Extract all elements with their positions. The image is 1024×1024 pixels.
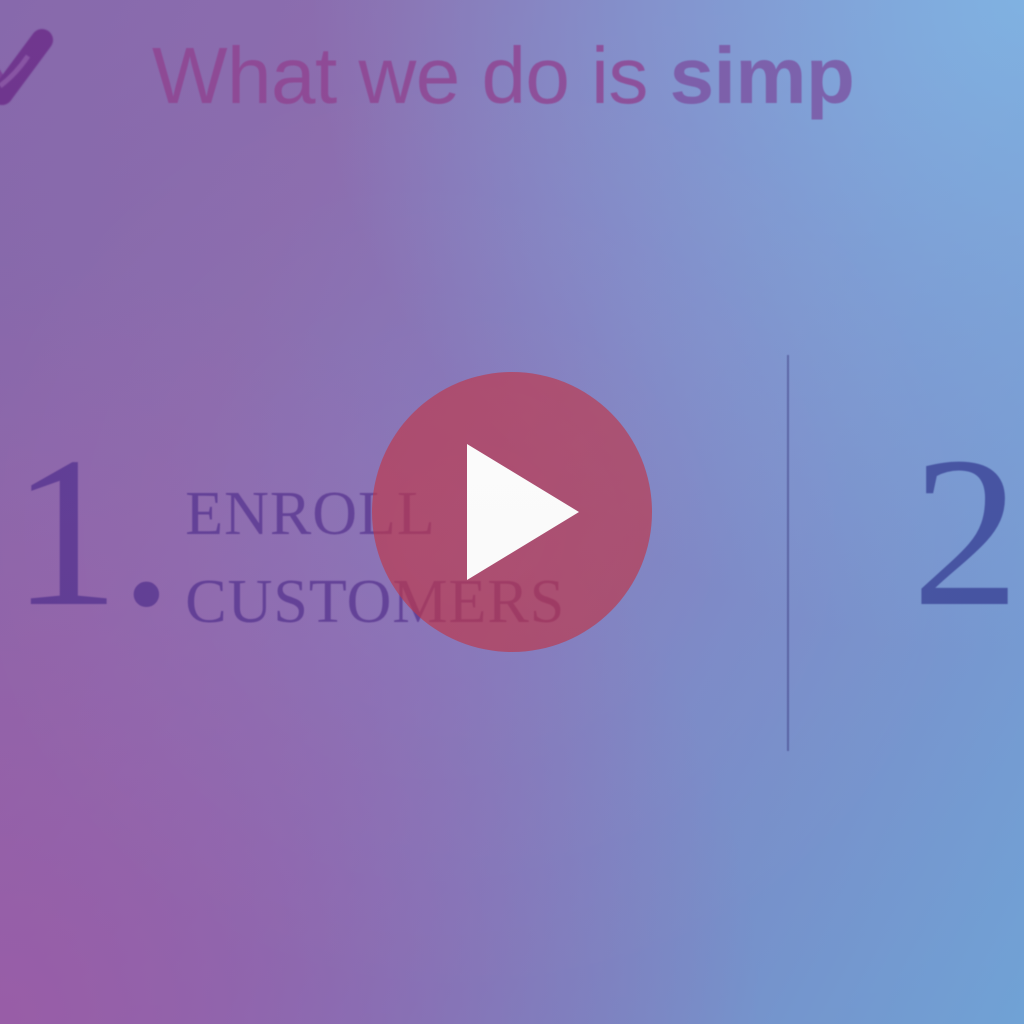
video-player-frame[interactable]: TER. What we do is simp 1. ENROLL CUSTOM…: [0, 0, 1024, 1024]
v-checkmark-logo-icon: [0, 26, 76, 106]
brand-logo: TER.: [0, 26, 106, 134]
headline-light-text: What we do is: [152, 31, 670, 120]
play-triangle-icon: [467, 444, 579, 580]
section-divider: [787, 355, 789, 751]
page-title: What we do is simp: [152, 34, 854, 118]
step-item-2: 2: [912, 448, 1020, 616]
headline-bold-text: simp: [670, 31, 855, 120]
play-button[interactable]: [372, 372, 652, 652]
step-number-1: 1.: [12, 448, 173, 616]
step-number-2: 2: [912, 448, 1020, 616]
